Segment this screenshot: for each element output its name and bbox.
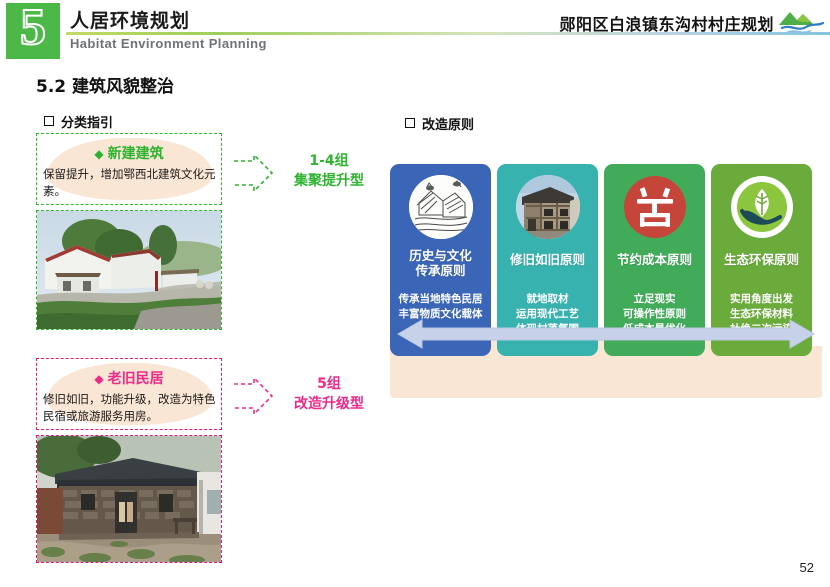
chapter-number-block: 5 xyxy=(6,3,60,59)
principle-title: 生态环保原则 xyxy=(714,252,809,267)
subheading-left-label: 分类指引 xyxy=(61,116,113,131)
arrow-right-outline-icon xyxy=(232,376,276,416)
category-description: 修旧如旧，功能升级，改造为特色民宿或旅游服务用房。 xyxy=(43,391,219,425)
tag-old-houses: 5组 改造升级型 xyxy=(274,374,384,414)
double-headed-arrow-icon xyxy=(392,314,820,354)
old-timber-house-photo-icon xyxy=(516,175,580,239)
arrow-right-outline-icon xyxy=(232,153,276,193)
category-box: ◆新建建筑 保留提升，增加鄂西北建筑文化元素。 xyxy=(36,133,222,205)
principle-title: 历史与文化 传承原则 xyxy=(393,248,488,278)
subheading-principles: 改造原则 xyxy=(405,114,474,133)
header-title-en: Habitat Environment Planning xyxy=(70,36,267,51)
slide-page: 5 人居环境规划 Habitat Environment Planning 郧阳… xyxy=(0,0,830,587)
page-number: 52 xyxy=(800,560,814,575)
category-title: ◆老旧民居 xyxy=(37,368,221,388)
tag-line2: 改造升级型 xyxy=(274,394,384,414)
principle-title: 修旧如旧原则 xyxy=(500,252,595,267)
slide-header: 5 人居环境规划 Habitat Environment Planning 郧阳… xyxy=(0,0,830,62)
header-title-cn: 人居环境规划 xyxy=(70,6,190,33)
category-box: ◆老旧民居 修旧如旧，功能升级，改造为特色民宿或旅游服务用房。 xyxy=(36,358,222,430)
principle-title: 节约成本原则 xyxy=(607,252,702,267)
tag-line1: 5组 xyxy=(274,374,384,394)
square-bullet-icon xyxy=(44,116,54,126)
subheading-right-label: 改造原则 xyxy=(422,118,474,133)
tag-new-buildings: 1-4组 集聚提升型 xyxy=(274,151,384,191)
mountain-river-logo-icon xyxy=(776,6,826,38)
sheng-seal-icon xyxy=(623,175,687,239)
photo-old-houses xyxy=(36,435,222,563)
page-title: 5.2 建筑风貌整治 xyxy=(36,72,174,97)
category-description: 保留提升，增加鄂西北建筑文化元素。 xyxy=(43,166,219,200)
tag-line2: 集聚提升型 xyxy=(274,171,384,191)
category-title: ◆新建建筑 xyxy=(37,143,221,163)
eco-leaf-hand-icon xyxy=(730,175,794,239)
historic-village-sketch-icon xyxy=(409,175,473,239)
tag-line1: 1-4组 xyxy=(274,151,384,171)
principles-panel: 历史与文化 传承原则 传承当地特色民居 丰富物质文化载体 xyxy=(390,150,822,390)
subheading-classification: 分类指引 xyxy=(44,112,113,131)
project-title: 郧阳区白浪镇东沟村村庄规划 xyxy=(559,11,774,35)
diamond-icon: ◆ xyxy=(94,372,103,386)
chapter-number: 5 xyxy=(6,0,60,57)
photo-new-buildings xyxy=(36,210,222,330)
diamond-icon: ◆ xyxy=(94,147,103,161)
square-bullet-icon xyxy=(405,118,415,128)
